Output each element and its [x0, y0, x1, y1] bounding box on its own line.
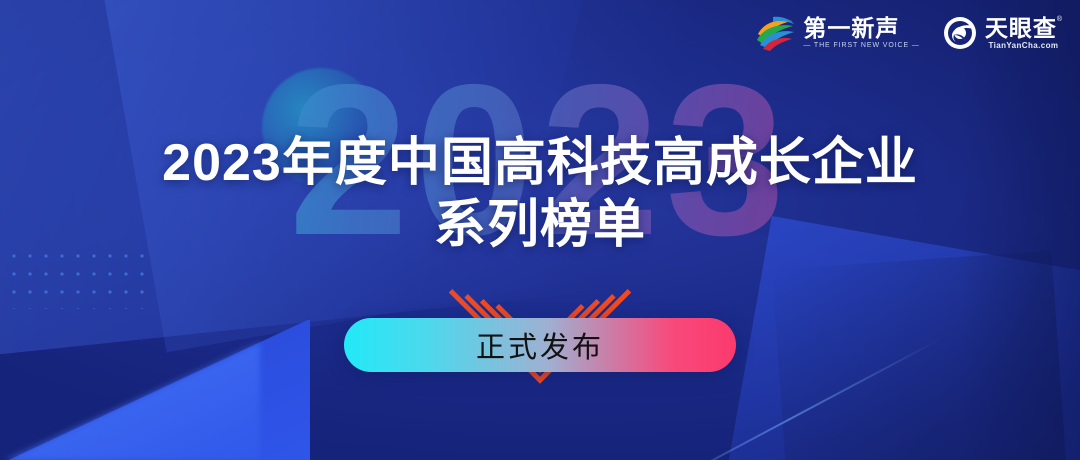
logo-tianyancha-text: 天眼查 ® TianYanCha.com — [985, 16, 1062, 51]
eye-lens-logo-icon — [942, 15, 978, 51]
title-line-secondary: 系列榜单 — [0, 194, 1080, 256]
page-title: 2023年度中国高科技高成长企业 系列榜单 — [0, 132, 1080, 256]
logo-tianyancha-tagline: TianYanCha.com — [985, 41, 1062, 51]
logo-tianyancha-name: 天眼查 — [985, 16, 1057, 41]
trademark-icon: ® — [1057, 16, 1062, 23]
swoosh-logo-icon — [754, 14, 796, 52]
logo-diyixinsheng[interactable]: 第一新声 — THE FIRST NEW VOICE — — [754, 14, 920, 52]
title-line-primary: 2023年度中国高科技高成长企业 — [0, 132, 1080, 194]
logo-diyixinsheng-text: 第一新声 — THE FIRST NEW VOICE — — [803, 16, 920, 51]
promo-banner: 2023 2023年度中国高科技高成长企业 系列榜单 正式发布 第一新声 — T… — [0, 0, 1080, 460]
logo-diyixinsheng-name: 第一新声 — [803, 16, 920, 41]
logo-group: 第一新声 — THE FIRST NEW VOICE — 天眼查 ® TianY… — [754, 14, 1062, 52]
release-status-label: 正式发布 — [476, 324, 604, 366]
logo-diyixinsheng-tagline: — THE FIRST NEW VOICE — — [803, 41, 920, 51]
logo-tianyancha[interactable]: 天眼查 ® TianYanCha.com — [942, 15, 1062, 51]
release-status-pill[interactable]: 正式发布 — [344, 318, 736, 372]
